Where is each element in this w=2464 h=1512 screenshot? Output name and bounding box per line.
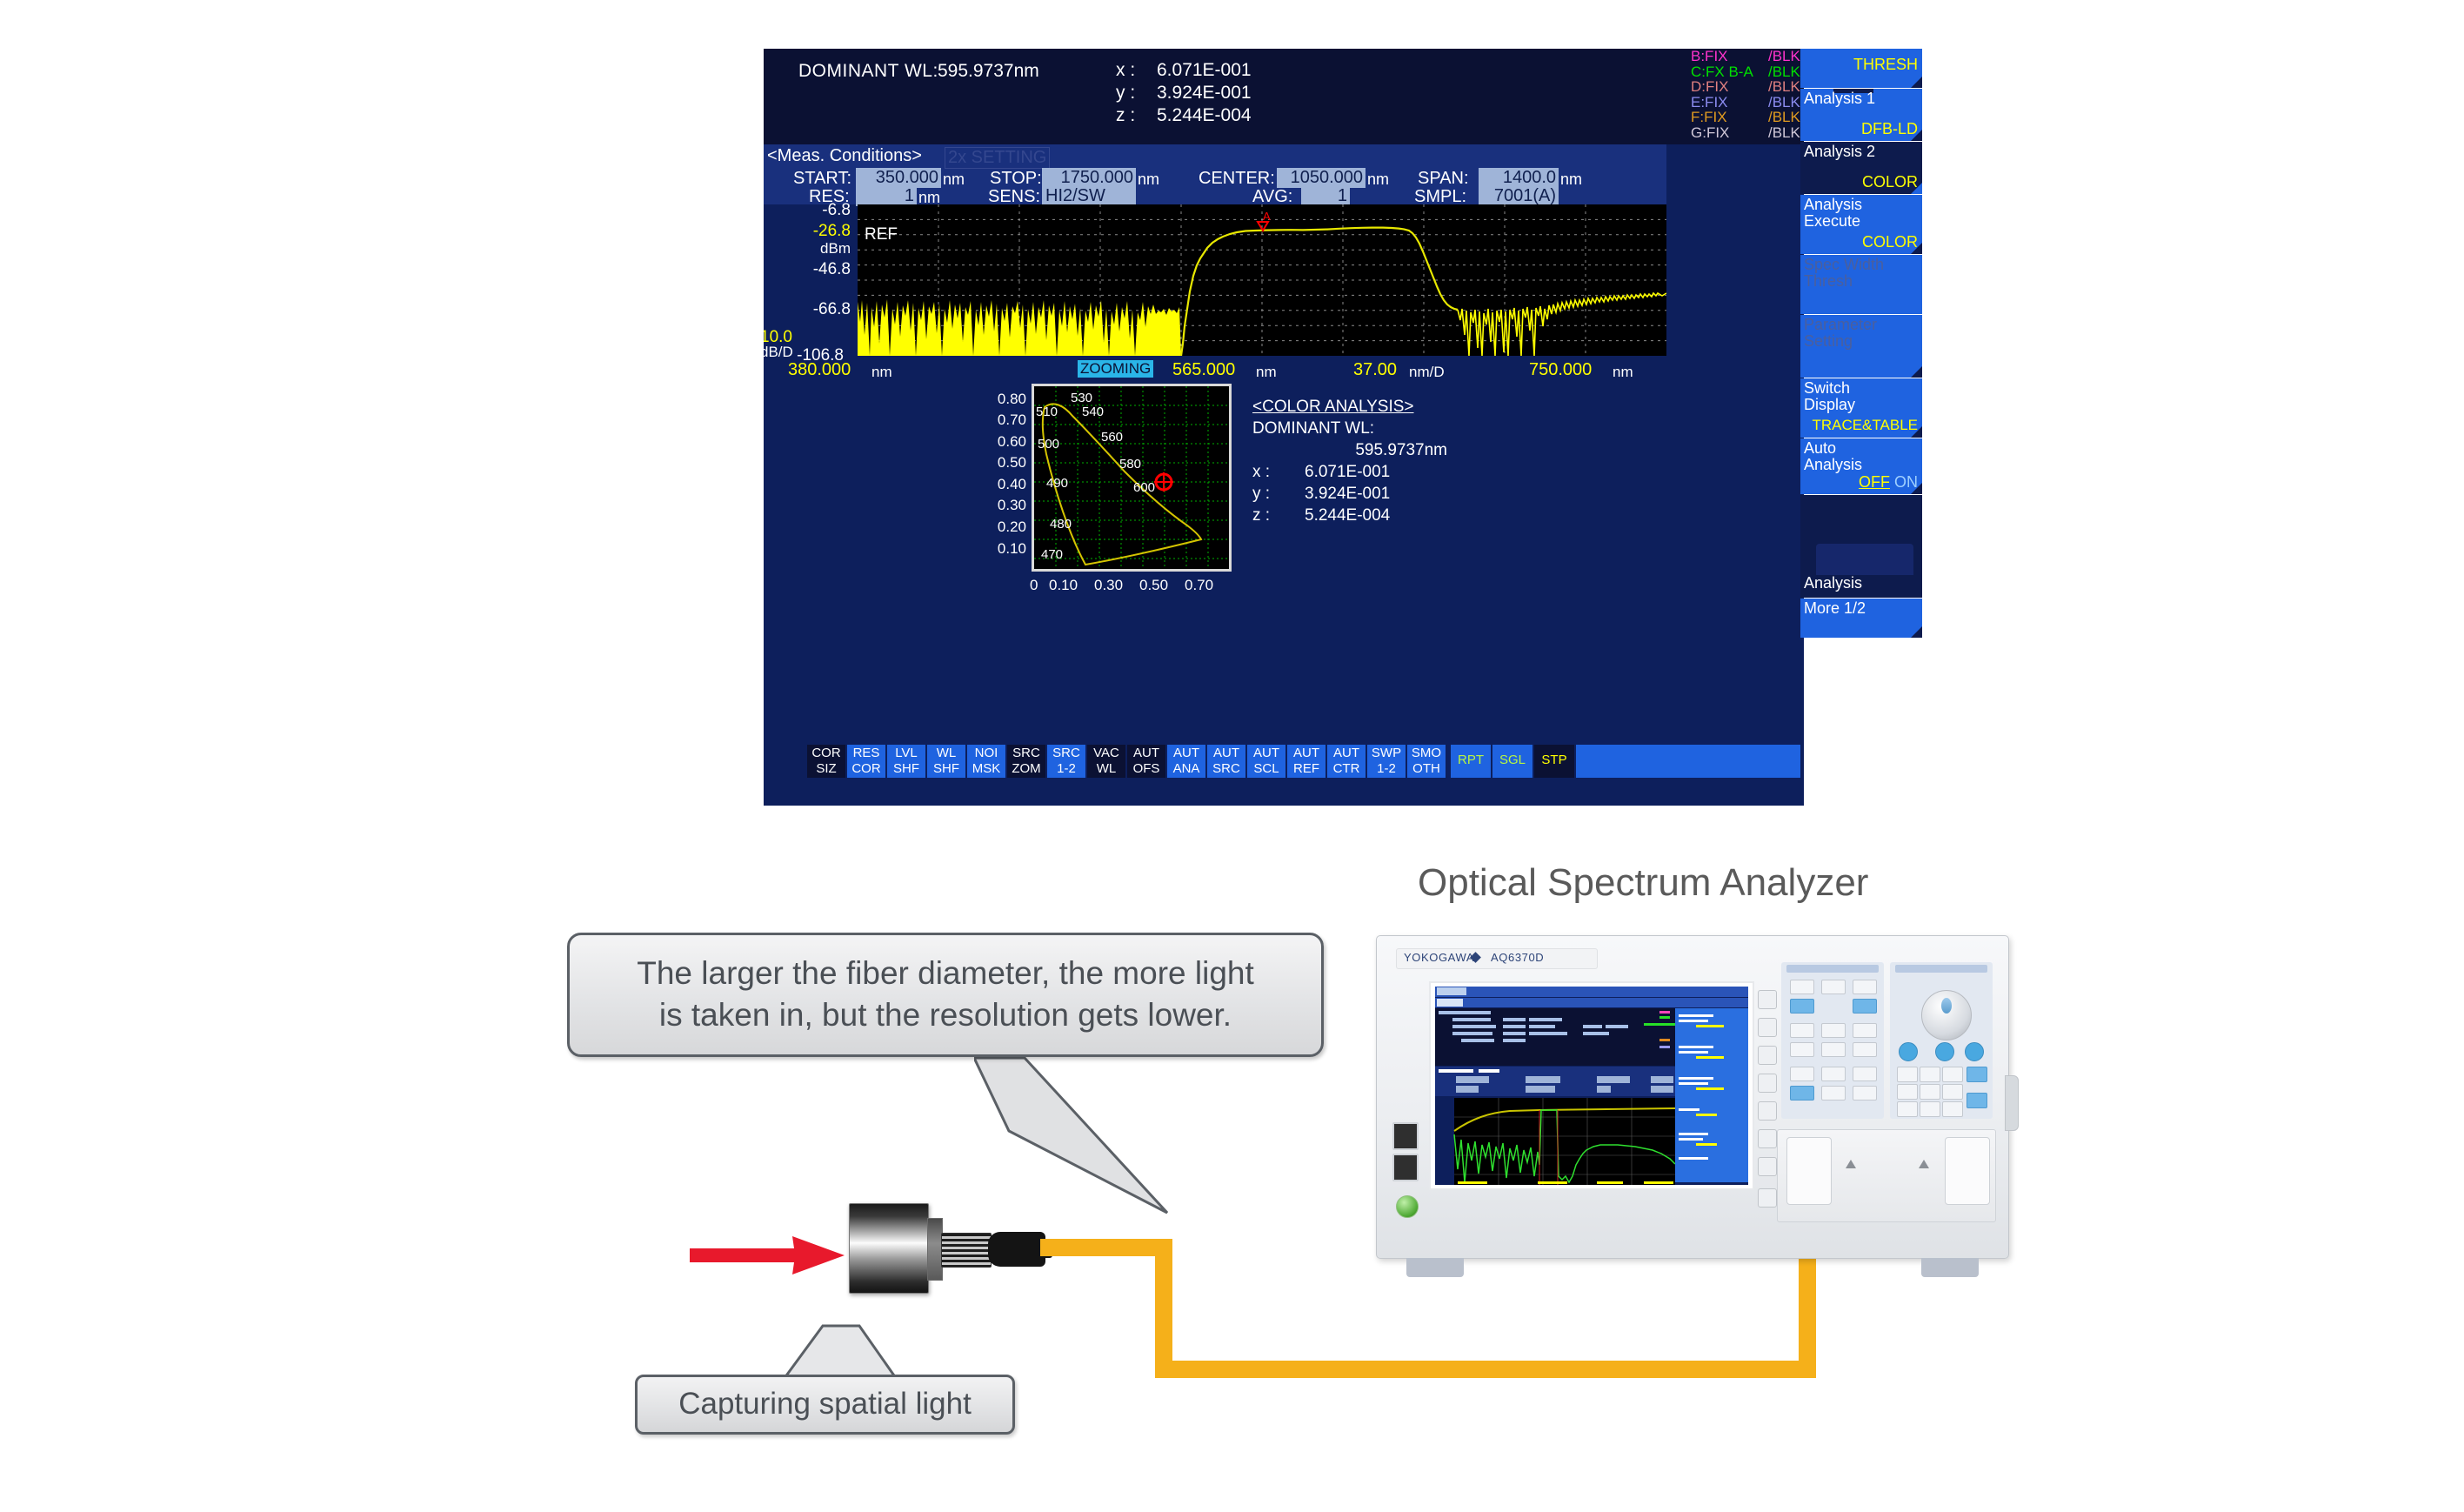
bottom-softkey-17[interactable]: RPT xyxy=(1451,745,1491,778)
speech-bubble: The larger the fiber diameter, the more … xyxy=(567,933,1324,1057)
start-value[interactable]: 350.000 xyxy=(856,168,941,188)
numpad-5[interactable] xyxy=(1920,1084,1940,1100)
key-center[interactable] xyxy=(1790,980,1814,994)
bottom-softkey-line2: SIZ xyxy=(807,761,845,777)
trace-legend-name: F:FIX xyxy=(1691,110,1727,125)
bottom-softkey-line1: AUT xyxy=(1167,746,1205,761)
fiber-connector-boot xyxy=(988,1232,1045,1267)
softkey-corner-icon xyxy=(1911,130,1922,141)
bottom-softkey-line1: STP xyxy=(1534,746,1574,768)
trace-legend-name: E:FIX xyxy=(1691,95,1728,110)
side-softkey-label: AutoAnalysis xyxy=(1804,440,1862,473)
chromaticity-plot[interactable]: 470 480 490 500 510 530 540 560 580 600 xyxy=(1032,384,1232,572)
bottom-softkey-line2: MSK xyxy=(967,761,1005,777)
trace-legend-blk: /BLK xyxy=(1768,95,1800,110)
avg-value[interactable]: 1 xyxy=(1301,186,1350,206)
side-softkey-label: Analysis 1 xyxy=(1804,90,1875,107)
model-text: AQ6370D xyxy=(1491,951,1544,964)
key-trace[interactable] xyxy=(1853,1023,1877,1038)
y-tick-0: -6.8 xyxy=(764,201,851,220)
x-stop-value: 750.000 xyxy=(1529,360,1592,380)
numpad-unit-2[interactable] xyxy=(1967,1093,1987,1108)
side-softkey-1[interactable]: THRESH xyxy=(1800,49,1922,88)
trace-legend-row: F:FIX/BLK xyxy=(1688,110,1804,125)
wl-label-480: 480 xyxy=(1050,517,1072,532)
side-softkey-8[interactable]: AutoAnalysisOFF ON xyxy=(1800,438,1922,494)
trace-legend-blk: /BLK xyxy=(1768,110,1800,125)
optical-connector-panel xyxy=(1777,1129,1996,1222)
bottom-softkey-line1: AUT xyxy=(1287,746,1325,761)
side-softkey-value: TRACE&TABLE xyxy=(1812,417,1918,434)
key-peak[interactable] xyxy=(1821,1042,1846,1057)
center-unit: nm xyxy=(1367,171,1389,189)
trace-legend-row: D:FIX/BLK xyxy=(1688,79,1804,95)
spectrum-x-axis: 380.000 nm ZOOMING 565.000 nm 37.00 nm/D… xyxy=(764,358,1666,383)
numpad-1[interactable] xyxy=(1897,1101,1918,1117)
chroma-y-tick-0: 0.80 xyxy=(981,391,1026,408)
bottom-softkey-11[interactable]: AUTSRC xyxy=(1207,745,1245,778)
bubble-line-2: is taken in, but the resolution gets low… xyxy=(570,994,1321,1036)
bottom-softkey-line1: AUT xyxy=(1207,746,1245,761)
wl-label-490: 490 xyxy=(1046,476,1068,491)
chroma-x-tick-3: 0.50 xyxy=(1139,577,1168,594)
trace-legend-row: C:FX B-A/BLK xyxy=(1688,64,1804,80)
bottom-softkey-line1: SRC xyxy=(1007,746,1045,761)
bottom-softkey-18[interactable]: SGL xyxy=(1492,745,1532,778)
fiber-ferrule xyxy=(941,1233,992,1268)
optical-input-port[interactable] xyxy=(1786,1137,1832,1205)
chroma-y-tick-5: 0.30 xyxy=(981,497,1026,514)
key-help[interactable] xyxy=(1853,1086,1877,1101)
fiber-cable-segment-2 xyxy=(1155,1239,1172,1378)
side-softkey-2[interactable]: Analysis 1DFB-LD xyxy=(1800,89,1922,141)
numpad-3[interactable] xyxy=(1942,1101,1963,1117)
softkey-corner-icon xyxy=(1911,483,1922,494)
key-file[interactable] xyxy=(1790,1067,1814,1081)
smpl-value[interactable]: 7001(A) xyxy=(1479,186,1559,206)
x-start-unit: nm xyxy=(871,364,892,381)
trace-legend-row: G:FIX/BLK xyxy=(1688,125,1804,141)
wl-label-500: 500 xyxy=(1038,437,1059,452)
x-div-unit: nm/D xyxy=(1409,364,1445,381)
softkey-corner-icon xyxy=(1911,366,1922,378)
chroma-marker-icon xyxy=(1154,472,1173,492)
chroma-y-tick-6: 0.20 xyxy=(981,518,1026,536)
res-value[interactable]: 1 xyxy=(856,186,917,206)
bottom-softkey-13[interactable]: AUTREF xyxy=(1287,745,1325,778)
bottom-softkey-line2: OTH xyxy=(1407,761,1446,777)
softkey-corner-icon xyxy=(1911,183,1922,194)
side-softkey-value: COLOR xyxy=(1862,173,1918,191)
keypad-header-bar xyxy=(1786,965,1879,973)
dominant-wl-value: 595.9737nm xyxy=(938,61,1039,82)
key-preset[interactable] xyxy=(1821,1086,1846,1101)
key-setup[interactable] xyxy=(1790,1023,1814,1038)
color-analysis-panel: <COLOR ANALYSIS> DOMINANT WL: 595.9737nm… xyxy=(1252,396,1470,526)
chroma-y-tick-7: 0.10 xyxy=(981,540,1026,558)
bottom-softkey-line2: REF xyxy=(1287,761,1325,777)
stop-unit: nm xyxy=(1138,171,1159,189)
device-foot-right xyxy=(1921,1258,1979,1277)
header-y-label: y : xyxy=(1116,83,1135,104)
function-keypad[interactable] xyxy=(1781,962,1884,1119)
ca-x-val: 6.071E-001 xyxy=(1305,463,1390,481)
svg-text:A: A xyxy=(1263,210,1271,223)
bottom-softkey-line1: AUT xyxy=(1327,746,1366,761)
side-softkey-label: Spec WidthThresh xyxy=(1804,257,1884,290)
chroma-y-tick-3: 0.50 xyxy=(981,454,1026,472)
wl-label-580: 580 xyxy=(1119,457,1141,472)
side-softkey-value: DFB-LD xyxy=(1861,120,1918,138)
auto-analysis-off[interactable]: OFF xyxy=(1859,473,1890,491)
start-label: START: xyxy=(793,169,851,189)
side-softkey-menu: THRESHAnalysis 1DFB-LDAnalysis 2COLORAna… xyxy=(1800,49,1926,773)
span-value[interactable]: 1400.0 xyxy=(1479,168,1559,188)
bottom-softkey-12[interactable]: AUTSCL xyxy=(1247,745,1285,778)
fiber-cable-segment-3 xyxy=(1155,1361,1816,1378)
device-brand-plate: YOKOGAWA AQ6370D xyxy=(1396,948,1598,969)
spectrum-plot-area[interactable]: A xyxy=(858,204,1666,356)
key-zoom[interactable] xyxy=(1853,999,1877,1014)
wl-label-510: 510 xyxy=(1036,405,1058,419)
stop-value[interactable]: 1750.000 xyxy=(1042,168,1136,188)
usb-slot-bottom[interactable] xyxy=(1392,1154,1419,1181)
bottom-softkey-10[interactable]: AUTANA xyxy=(1167,745,1205,778)
softkey-corner-icon xyxy=(1911,426,1922,438)
wl-label-470: 470 xyxy=(1041,547,1063,562)
bottom-softkey-line2: ZOM xyxy=(1007,761,1045,777)
meas-conditions-title: <Meas. Conditions> xyxy=(767,146,922,166)
entry-keypad-header-bar xyxy=(1895,965,1987,973)
brand-text: YOKOGAWA xyxy=(1404,951,1474,964)
numpad-9[interactable] xyxy=(1942,1067,1963,1082)
ca-z-val: 5.244E-004 xyxy=(1305,506,1390,525)
ref-level-label: REF xyxy=(865,225,898,244)
side-softkey-value: COLOR xyxy=(1862,233,1918,251)
side-softkey-label: SwitchDisplay xyxy=(1804,380,1855,413)
trace-legend-blk: /BLK xyxy=(1768,49,1800,64)
side-softkey-10[interactable]: More 1/2 xyxy=(1800,599,1922,638)
chroma-x-tick-1: 0.10 xyxy=(1049,577,1078,594)
screen-softkey-1[interactable] xyxy=(1758,990,1777,1009)
osa-screen: DOMINANT WL: 595.9737nm x : 6.071E-001 y… xyxy=(764,49,1804,806)
optical-spectrum-analyzer-device: YOKOGAWA AQ6370D xyxy=(1376,935,2009,1259)
side-softkey-4[interactable]: AnalysisExecuteCOLOR xyxy=(1800,195,1922,254)
side-softkey-6[interactable]: ParameterSetting xyxy=(1800,315,1922,378)
bottom-softkey-line1: NOI xyxy=(967,746,1005,761)
bottom-softkey-1[interactable]: CORSIZ xyxy=(807,745,845,778)
header-x-label: x : xyxy=(1116,60,1135,81)
trace-legend-name: C:FX B-A xyxy=(1691,64,1753,80)
chroma-x-tick-2: 0.30 xyxy=(1094,577,1123,594)
bottom-softkey-line2: 1-2 xyxy=(1047,761,1085,777)
warning-triangle-icon-left xyxy=(1846,1160,1856,1168)
zooming-badge: ZOOMING xyxy=(1078,360,1153,378)
chroma-x-tick-4: 0.70 xyxy=(1185,577,1213,594)
numpad-7[interactable] xyxy=(1897,1067,1918,1082)
meas-conditions-panel: <Meas. Conditions> 2x SETTING START: 350… xyxy=(764,144,1666,204)
side-softkey-label: ParameterSetting xyxy=(1804,317,1877,350)
chroma-y-tick-4: 0.40 xyxy=(981,476,1026,493)
screen-softkey-2[interactable] xyxy=(1758,1018,1777,1037)
softkey-corner-icon xyxy=(1911,243,1922,254)
usb-slot-top[interactable] xyxy=(1392,1122,1419,1150)
up-arrow-icon[interactable] xyxy=(1965,1042,1984,1061)
device-display-content xyxy=(1435,987,1748,1185)
ca-z-key: z : xyxy=(1252,505,1282,526)
bottom-softkey-line1: RPT xyxy=(1451,746,1491,768)
bottom-softkey-8[interactable]: VACWL xyxy=(1087,745,1125,778)
screen-softkey-4[interactable] xyxy=(1758,1074,1777,1093)
wl-label-540: 540 xyxy=(1082,405,1104,419)
center-value[interactable]: 1050.000 xyxy=(1277,168,1366,188)
ca-x-key: x : xyxy=(1252,461,1282,483)
wl-label-600: 600 xyxy=(1133,480,1155,495)
chroma-y-tick-2: 0.60 xyxy=(981,433,1026,451)
bottom-softkey-line1: RES xyxy=(847,746,885,761)
header-z-label: z : xyxy=(1116,105,1135,126)
x-center-value: 565.000 xyxy=(1172,360,1235,380)
y-tick-3: -66.8 xyxy=(764,300,851,319)
screen-softkey-5[interactable] xyxy=(1758,1101,1777,1121)
header-z-value: 5.244E-004 xyxy=(1157,105,1252,126)
trace-legend-blk: /BLK xyxy=(1768,64,1800,80)
numpad-8[interactable] xyxy=(1920,1067,1940,1082)
screen-softkey-3[interactable] xyxy=(1758,1046,1777,1065)
fiber-cable-segment-1 xyxy=(1040,1239,1172,1256)
down-arrow-icon[interactable] xyxy=(1935,1042,1954,1061)
side-softkey-label: More 1/2 xyxy=(1804,600,1866,617)
bottom-softkey-line2: SRC xyxy=(1207,761,1245,777)
ca-y-key: y : xyxy=(1252,483,1282,505)
analysis-title-plate xyxy=(1816,544,1913,575)
bottom-softkey-16[interactable]: SMOOTH xyxy=(1407,745,1446,778)
numpad-unit-1[interactable] xyxy=(1967,1067,1987,1082)
caption-text: Capturing spatial light xyxy=(638,1387,1012,1422)
key-analysis[interactable] xyxy=(1853,1042,1877,1057)
ca-dominant-wl-value: 595.9737nm xyxy=(1252,439,1470,461)
bottom-softkey-bar: CORSIZRESCORLVLSHFWLSHFNOIMSKSRCZOMSRC1-… xyxy=(764,745,1804,779)
bottom-softkey-line2: CTR xyxy=(1327,761,1366,777)
bottom-softkey-line1: AUT xyxy=(1127,746,1165,761)
trace-legend: B:FIX/BLKC:FX B-A/BLKD:FIX/BLKE:FIX/BLKF… xyxy=(1688,49,1804,144)
bottom-softkey-line1: SMO xyxy=(1407,746,1446,761)
header-y-value: 3.924E-001 xyxy=(1157,83,1252,104)
color-analysis-title: <COLOR ANALYSIS> xyxy=(1252,396,1470,418)
screen-softkey-6[interactable] xyxy=(1758,1129,1777,1148)
entry-keypad[interactable] xyxy=(1890,962,1993,1119)
px-setting-badge: 2x SETTING xyxy=(945,147,1050,169)
spectrum-graph: -6.8 -26.8 dBm -46.8 -66.8 10.0 dB/D -10… xyxy=(764,204,1666,357)
bottom-softkey-3[interactable]: LVLSHF xyxy=(887,745,925,778)
bottom-softkey-14[interactable]: AUTCTR xyxy=(1327,745,1366,778)
bottom-softkey-7[interactable]: SRC1-2 xyxy=(1047,745,1085,778)
bottom-softkey-line1: AUT xyxy=(1247,746,1285,761)
bottom-softkey-line2: SHF xyxy=(927,761,965,777)
speech-bubble-tail xyxy=(974,1051,1235,1225)
header-x-value: 6.071E-001 xyxy=(1157,60,1252,81)
trace-legend-name: D:FIX xyxy=(1691,79,1728,95)
bottom-softkey-line2: OFS xyxy=(1127,761,1165,777)
trace-legend-blk: /BLK xyxy=(1768,125,1800,141)
bottom-softkey-line2: SCL xyxy=(1247,761,1285,777)
device-display xyxy=(1429,981,1754,1190)
trace-legend-row: B:FIX/BLK xyxy=(1688,49,1804,64)
numpad-2[interactable] xyxy=(1920,1101,1940,1117)
caption-bubble: Capturing spatial light xyxy=(635,1375,1015,1435)
dominant-wl-label: DOMINANT WL: xyxy=(798,61,938,82)
spectrum-svg: A xyxy=(858,204,1666,356)
bottom-softkey-line2: 1-2 xyxy=(1367,761,1406,777)
side-softkey-label: AnalysisExecute xyxy=(1804,197,1862,230)
x-div-value: 37.00 xyxy=(1353,360,1397,380)
y-tick-2: -46.8 xyxy=(764,260,851,279)
lens-barrel xyxy=(849,1203,929,1294)
y-unit: dBm xyxy=(764,240,851,258)
enter-button[interactable] xyxy=(1899,1042,1918,1061)
span-unit: nm xyxy=(1560,171,1582,189)
screen-softkey-8[interactable] xyxy=(1758,1188,1777,1208)
ca-y-val: 3.924E-001 xyxy=(1305,485,1390,503)
trace-legend-name: B:FIX xyxy=(1691,49,1728,64)
chroma-y-tick-1: 0.70 xyxy=(981,411,1026,429)
bottom-softkey-line1: SWP xyxy=(1367,746,1406,761)
bottom-softkey-line2: COR xyxy=(847,761,885,777)
stop-label: STOP: xyxy=(990,169,1042,189)
side-softkey-value: THRESH xyxy=(1853,56,1918,74)
chromaticity-block: 470 480 490 500 510 530 540 560 580 600 … xyxy=(981,384,1503,597)
screen-softkey-7[interactable] xyxy=(1758,1157,1777,1176)
side-softkey-value: OFF ON xyxy=(1859,473,1918,492)
page-title: Optical Spectrum Analyzer xyxy=(1418,861,1868,905)
side-softkey-3[interactable]: Analysis 2COLOR xyxy=(1800,142,1922,194)
wl-label-530: 530 xyxy=(1071,391,1092,405)
y-tick-ref: -26.8 xyxy=(764,222,851,241)
bottom-softkey-line1: COR xyxy=(807,746,845,761)
bottom-softkey-line1: LVL xyxy=(887,746,925,761)
bottom-softkey-9[interactable]: AUTOFS xyxy=(1127,745,1165,778)
power-button[interactable] xyxy=(1396,1195,1419,1218)
bottom-softkey-line1: SGL xyxy=(1492,746,1532,768)
bottom-softkey-line2: ANA xyxy=(1167,761,1205,777)
key-display[interactable] xyxy=(1821,1023,1846,1038)
key-level[interactable] xyxy=(1853,980,1877,994)
trace-legend-row: E:FIX/BLK xyxy=(1688,95,1804,110)
bottom-softkey-line1: SRC xyxy=(1047,746,1085,761)
bottom-softkey-19[interactable]: STP xyxy=(1534,745,1574,778)
incoming-light-arrow-icon xyxy=(690,1231,846,1280)
bottom-softkey-4[interactable]: WLSHF xyxy=(927,745,965,778)
x-start-value: 380.000 xyxy=(788,360,851,380)
bottom-softkey-5[interactable]: NOIMSK xyxy=(967,745,1005,778)
marker-a-icon: A xyxy=(1258,210,1271,231)
bottom-softkey-blank xyxy=(1576,745,1800,778)
bottom-softkey-line2: SHF xyxy=(887,761,925,777)
color-analysis-header: DOMINANT WL: 595.9737nm x : 6.071E-001 y… xyxy=(764,49,1688,144)
sens-value[interactable]: HI2/SW xyxy=(1042,186,1136,206)
bubble-line-1: The larger the fiber diameter, the more … xyxy=(570,953,1321,994)
bottom-softkey-line2: WL xyxy=(1087,761,1125,777)
bottom-softkey-line1: WL xyxy=(927,746,965,761)
side-softkey-9[interactable]: Analysis xyxy=(1800,495,1922,598)
softkey-corner-icon xyxy=(1911,77,1922,88)
side-softkey-label: Analysis xyxy=(1804,575,1862,592)
device-foot-left xyxy=(1406,1258,1464,1277)
bottom-softkey-15[interactable]: SWP1-2 xyxy=(1367,745,1406,778)
side-softkey-label: Analysis 2 xyxy=(1804,144,1875,160)
key-system[interactable] xyxy=(1853,1067,1877,1081)
span-label: SPAN: xyxy=(1418,169,1469,189)
numpad-4[interactable] xyxy=(1897,1084,1918,1100)
warning-triangle-icon-right xyxy=(1919,1160,1929,1168)
x-center-unit: nm xyxy=(1256,364,1277,381)
center-label: CENTER: xyxy=(1199,169,1275,189)
side-handle xyxy=(2005,1075,2019,1131)
start-unit: nm xyxy=(943,171,965,189)
side-softkey-7[interactable]: SwitchDisplayTRACE&TABLE xyxy=(1800,378,1922,438)
device-screen-svg xyxy=(1435,987,1748,1185)
chroma-x-tick-0: 0 xyxy=(1030,577,1038,594)
calibration-output-port[interactable] xyxy=(1945,1137,1990,1205)
ca-dominant-wl-label: DOMINANT WL: xyxy=(1252,418,1470,439)
key-local[interactable] xyxy=(1790,1086,1814,1101)
numpad-6[interactable] xyxy=(1942,1084,1963,1100)
side-softkey-5[interactable]: Spec WidthThresh xyxy=(1800,255,1922,314)
wl-label-560: 560 xyxy=(1101,430,1123,445)
key-sweep[interactable] xyxy=(1790,999,1814,1014)
trace-legend-blk: /BLK xyxy=(1768,79,1800,95)
key-span[interactable] xyxy=(1821,980,1846,994)
rotary-knob[interactable] xyxy=(1921,990,1972,1040)
key-print[interactable] xyxy=(1821,1067,1846,1081)
trace-legend-name: G:FIX xyxy=(1691,125,1729,141)
x-stop-unit: nm xyxy=(1613,364,1633,381)
bottom-softkey-6[interactable]: SRCZOM xyxy=(1007,745,1045,778)
bottom-softkey-line1: VAC xyxy=(1087,746,1125,761)
softkey-corner-icon xyxy=(1911,626,1922,638)
bottom-softkey-2[interactable]: RESCOR xyxy=(847,745,885,778)
key-marker[interactable] xyxy=(1790,1042,1814,1057)
